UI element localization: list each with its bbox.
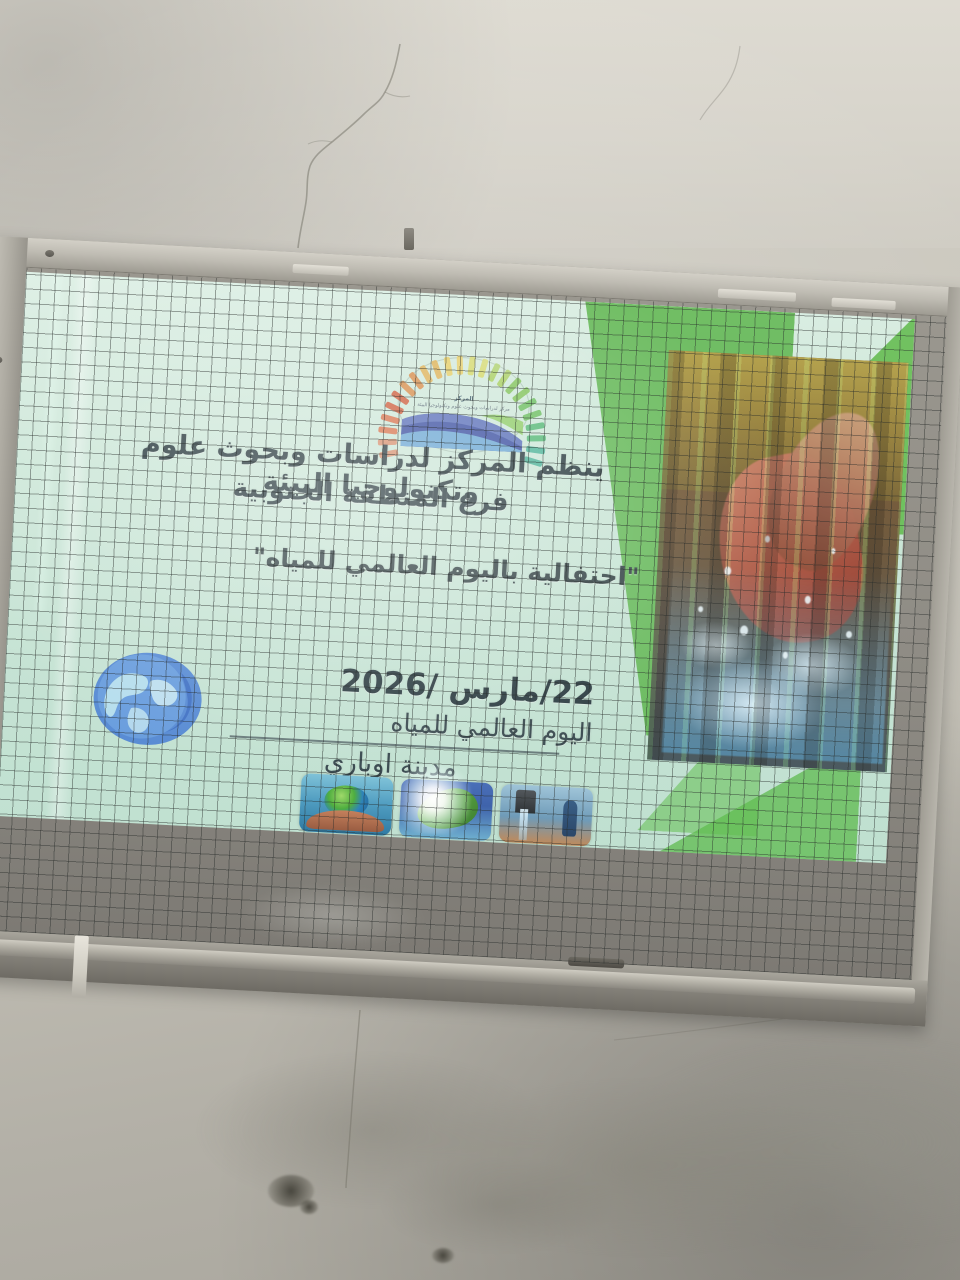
logo-ray — [525, 422, 545, 431]
globe-icon — [89, 644, 206, 754]
hands-splashing-water-photo — [647, 350, 908, 772]
board-smudge-upper — [451, 337, 593, 384]
thumb-water-stream-shape — [519, 809, 528, 840]
board-smudge-lower — [241, 880, 424, 951]
thumb-leaf-hand-shape — [413, 783, 482, 837]
ceiling-mount-bracket — [404, 228, 414, 250]
thumb-hands-shape — [306, 808, 384, 832]
wall-stain-3 — [300, 1200, 318, 1214]
whiteboard[interactable]: المركز مركز لدراسات وبحوث علوم وتكنولوجي… — [0, 236, 960, 1027]
wall-stain-2 — [432, 1248, 454, 1263]
wall-crack-secondary — [660, 44, 800, 184]
projector-light-streak-secondary — [32, 273, 66, 611]
whiteboard-surface[interactable]: المركز مركز لدراسات وبحوث علوم وتكنولوجي… — [0, 268, 947, 980]
hands-holding-globe-thumb — [299, 773, 394, 836]
logo-ray — [527, 435, 546, 441]
photo-dark-band-artifact — [647, 350, 908, 772]
wall-crack-main — [240, 40, 480, 260]
logo-ray — [378, 426, 398, 434]
logo-ray — [380, 413, 400, 424]
event-title: "احتفالية باليوم العالمي للمياه" — [211, 540, 682, 594]
hands-cupping-plant-thumb — [399, 778, 494, 841]
tap-water-and-person-thumb — [498, 784, 593, 847]
peeling-plaster-area — [120, 1030, 960, 1280]
room-scene: المركز مركز لدراسات وبحوث علوم وتكنولوجي… — [0, 0, 960, 1280]
thumb-person-shape — [561, 800, 578, 837]
